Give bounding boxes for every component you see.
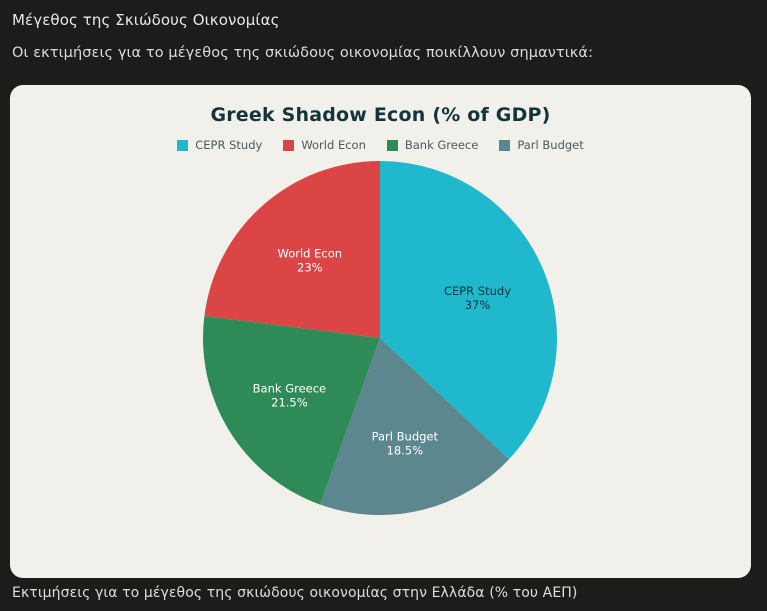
page-subtitle: Οι εκτιμήσεις για το μέγεθος της σκιώδου…	[12, 29, 755, 62]
chart-card: Greek Shadow Econ (% of GDP) CEPR StudyW…	[10, 85, 751, 578]
pie-slice[interactable]	[204, 161, 380, 338]
intro-block: Μέγεθος της Σκιώδους Οικονομίας Οι εκτιμ…	[0, 0, 767, 62]
pie-chart-area: CEPR Study37%Parl Budget18.5%Bank Greece…	[10, 145, 751, 578]
pie-chart-svg: CEPR Study37%Parl Budget18.5%Bank Greece…	[10, 145, 751, 578]
chart-title: Greek Shadow Econ (% of GDP)	[10, 85, 751, 126]
page-title: Μέγεθος της Σκιώδους Οικονομίας	[12, 0, 755, 29]
page-root: Μέγεθος της Σκιώδους Οικονομίας Οι εκτιμ…	[0, 0, 767, 611]
figure-caption: Εκτιμήσεις για το μέγεθος της σκιώδους ο…	[12, 585, 577, 602]
